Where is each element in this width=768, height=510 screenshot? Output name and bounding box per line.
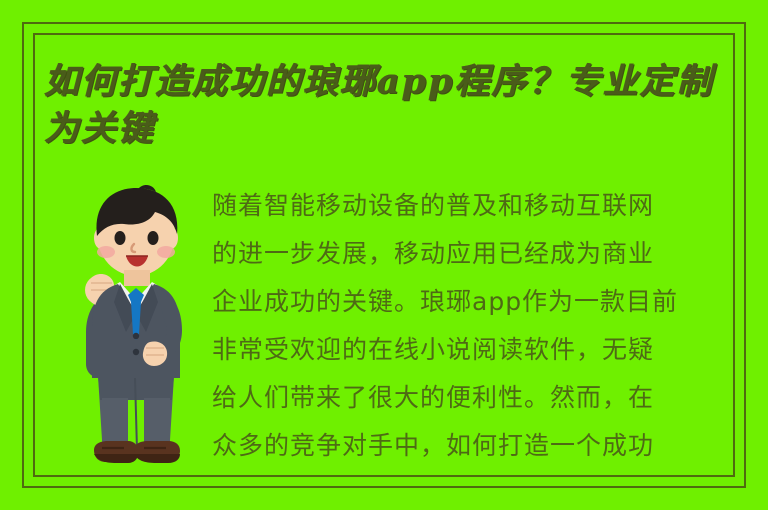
body-line-5: 给人们带来了很大的便利性。然而，在 bbox=[212, 374, 732, 422]
body-line-3: 企业成功的关键。琅琊app作为一款目前 bbox=[212, 278, 732, 326]
body-line-1: 随着智能移动设备的普及和移动互联网 bbox=[212, 182, 732, 230]
body-line-4: 非常受欢迎的在线小说阅读软件，无疑 bbox=[212, 326, 732, 374]
title-line-2: 为关键 bbox=[44, 105, 744, 152]
body-line-2: 的进一步发展，移动应用已经成为商业 bbox=[212, 230, 732, 278]
title-line-1: 如何打造成功的琅琊app程序？专业定制 bbox=[44, 58, 744, 105]
body-line-6: 众多的竞争对手中，如何打造一个成功 bbox=[212, 422, 732, 470]
poster-canvas: 如何打造成功的琅琊app程序？专业定制 为关键 bbox=[0, 0, 768, 510]
cartoon-businessman-illustration bbox=[58, 182, 214, 478]
body-paragraph: 随着智能移动设备的普及和移动互联网 的进一步发展，移动应用已经成为商业 企业成功… bbox=[212, 182, 732, 470]
page-title: 如何打造成功的琅琊app程序？专业定制 为关键 bbox=[44, 58, 744, 152]
